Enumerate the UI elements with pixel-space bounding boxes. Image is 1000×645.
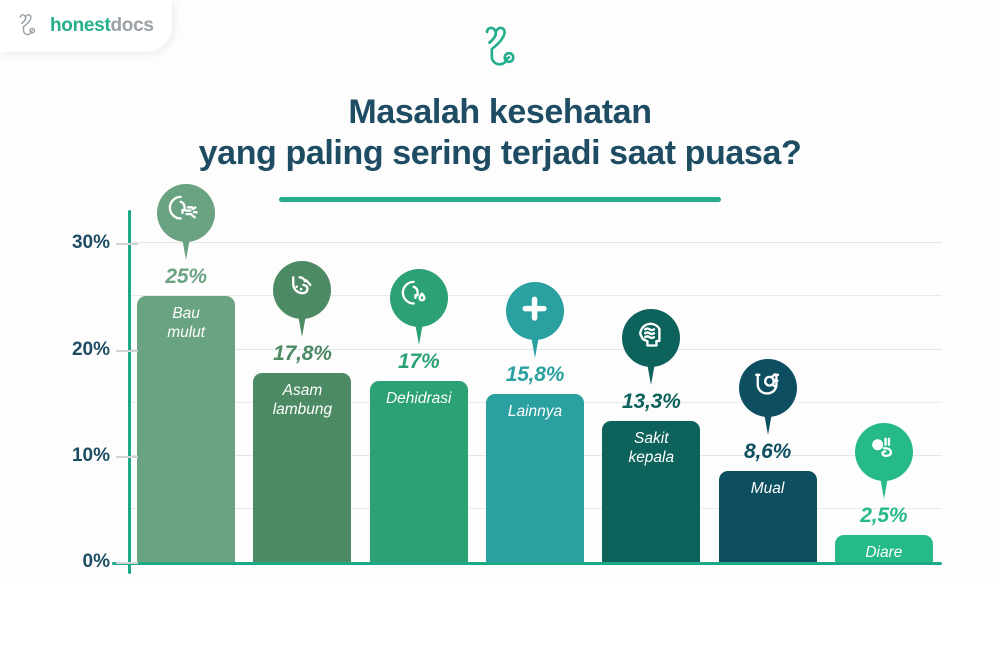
bar[interactable]: Diare [835,535,933,562]
bar-value-label: 2,5% [835,504,933,528]
bar-value-label: 17,8% [253,342,351,366]
brand-name-part-1: honest [50,15,110,36]
x-axis-line [112,562,942,565]
bar-value-label: 15,8% [486,363,584,387]
bar-value-label: 13,3% [602,390,700,414]
brand-logo[interactable]: honestdocs [0,0,172,52]
footer-strip [0,583,1000,645]
page-title-line-2: yang paling sering terjadi saat puasa? [0,133,1000,174]
y-axis-tick-mark [116,243,138,245]
page-title-line-1: Masalah kesehatan [0,92,1000,133]
plot-area: Bau mulut25%Asam lambung17,8%Dehidrasi17… [128,222,942,562]
medical-cross-icon [503,280,567,360]
bad-breath-face-icon [154,182,218,262]
brand-name: honestdocs [50,15,154,37]
bar-chart: Bau mulut25%Asam lambung17,8%Dehidrasi17… [72,222,942,574]
y-axis-tick-label: 30% [62,232,110,254]
bar-group[interactable]: Lainnya15,8% [486,222,584,562]
bar-group[interactable]: Mual8,6% [719,222,817,562]
bar-category-label: Dehidrasi [386,390,451,562]
stomach-bacteria-icon [270,259,334,339]
bar[interactable]: Lainnya [486,394,584,562]
nausea-vomit-icon [736,357,800,437]
brand-name-part-2: docs [110,15,153,36]
bar-group[interactable]: Sakit kepala13,3% [602,222,700,562]
headache-head-icon [619,307,683,387]
y-axis-line [128,210,131,574]
bar-group[interactable]: Bau mulut25% [137,222,235,562]
y-axis-tick-mark [116,350,138,352]
bar[interactable]: Mual [719,471,817,562]
bar-group[interactable]: Dehidrasi17% [370,222,468,562]
bar-value-label: 17% [370,350,468,374]
bar-group[interactable]: Asam lambung17,8% [253,222,351,562]
dehydration-face-drop-icon [387,267,451,347]
bar[interactable]: Bau mulut [137,296,235,562]
intestine-diarrhea-icon [852,421,916,501]
stethoscope-heart-icon [472,22,528,78]
y-axis-tick-mark [116,562,138,564]
bar-category-label: Mual [751,480,785,562]
bar[interactable]: Dehidrasi [370,381,468,562]
y-axis-labels: 0%10%20%30% [58,222,110,562]
bar-category-label: Bau mulut [167,305,205,562]
bar[interactable]: Sakit kepala [602,421,700,562]
bar-category-label: Diare [865,544,902,562]
bar-group[interactable]: Diare2,5% [835,222,933,562]
heart-stethoscope-icon [16,12,44,40]
bar-value-label: 8,6% [719,440,817,464]
bar[interactable]: Asam lambung [253,373,351,562]
bar-category-label: Asam lambung [273,382,332,562]
y-axis-tick-label: 0% [62,551,110,573]
infographic-page: honestdocs Masalah kesehatan yang paling… [0,0,1000,645]
title-underline [279,197,721,202]
bar-value-label: 25% [137,265,235,289]
bar-category-label: Lainnya [508,403,562,562]
y-axis-tick-label: 10% [62,445,110,467]
y-axis-tick-mark [116,456,138,458]
y-axis-tick-label: 20% [62,339,110,361]
bar-category-label: Sakit kepala [628,430,674,562]
